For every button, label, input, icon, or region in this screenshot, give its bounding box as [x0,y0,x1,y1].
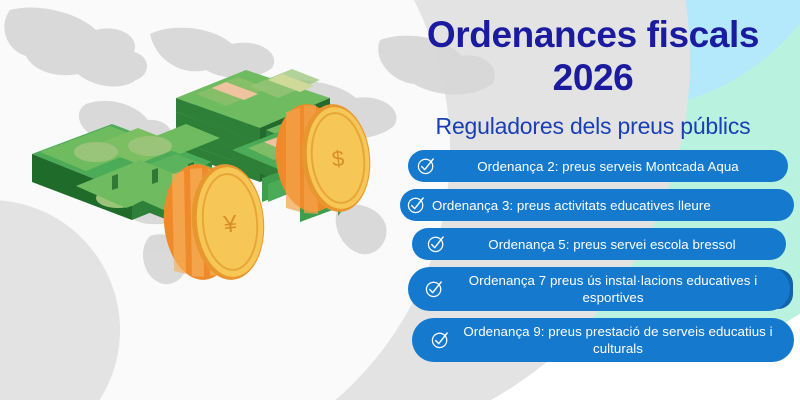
page-title: Ordenances fiscals 2026 [386,13,800,99]
money-illustration: $ ¥ [0,0,400,400]
svg-text:$: $ [331,145,346,171]
money-illustration-svg: $ ¥ [0,0,400,400]
ordinance-label: Ordenança 3: preus activitats educatives… [432,197,784,214]
gold-coin-back: $ [271,101,376,216]
ordinance-list: Ordenança 2: preus serveis Montcada Aqua… [386,150,800,369]
title-line-2: 2026 [386,56,800,99]
check-circle-icon [430,330,450,350]
gold-coin-front: ¥ [159,161,269,283]
ordinance-badge[interactable]: Ordenança 2: preus serveis Montcada Aqua [408,150,788,182]
check-circle-icon [416,156,436,176]
ordinance-badge[interactable]: Ordenança 5: preus servei escola bressol [412,228,786,260]
check-circle-icon [424,279,444,299]
page-subtitle: Reguladores dels preus públics [386,112,800,140]
check-circle-icon [406,195,426,215]
check-circle-icon [426,234,446,254]
title-line-1: Ordenances fiscals [386,13,800,56]
text-content-column: Ordenances fiscals 2026 Reguladores dels… [386,0,800,400]
ordinance-label: Ordenança 9: preus prestació de serveis … [456,323,784,357]
ordinance-label: Ordenança 7 preus ús instal·lacions educ… [450,272,780,306]
ordinance-label: Ordenança 5: preus servei escola bressol [452,236,776,253]
ordinance-badge[interactable]: Ordenança 3: preus activitats educatives… [400,189,794,221]
ordinance-label: Ordenança 2: preus serveis Montcada Aqua [442,158,778,175]
poster-canvas: $ ¥ Ordenances fiscals 2026 Regula [0,0,800,400]
ordinance-badge[interactable]: Ordenança 9: preus prestació de serveis … [412,318,794,362]
ordinance-badge[interactable]: Ordenança 7 preus ús instal·lacions educ… [408,267,790,311]
